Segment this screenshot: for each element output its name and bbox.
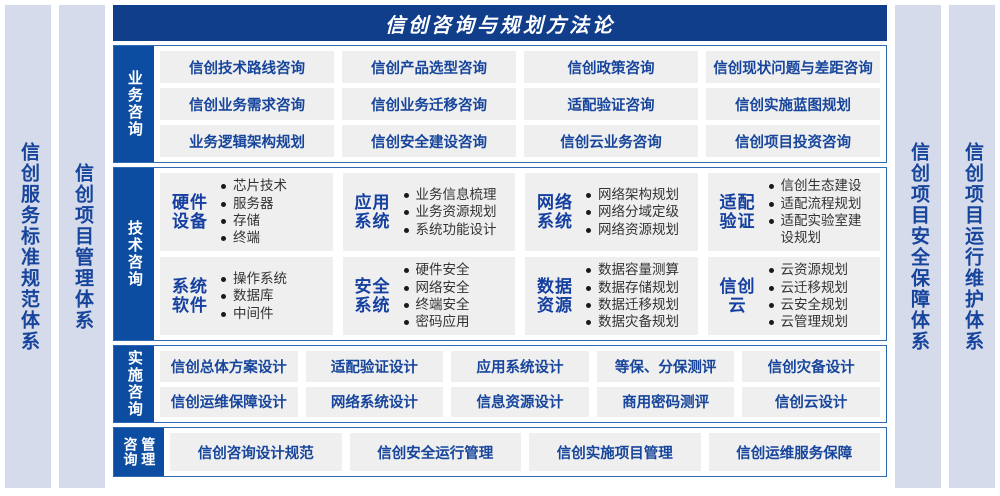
bullet-item: 业务资源规划 xyxy=(403,203,508,220)
chip-row: 信创业务需求咨询 信创业务迁移咨询 适配验证咨询 信创实施蓝图规划 xyxy=(160,88,880,120)
pillar-service-standard: 信创服务标准规范体系 xyxy=(5,5,51,488)
card-bullet-list: 业务信息梳理 业务资源规划 系统功能设计 xyxy=(403,186,508,238)
bullet-item: 云安全规划 xyxy=(768,296,873,313)
chip-item[interactable]: 信创业务需求咨询 xyxy=(160,88,334,120)
band-technical-consulting: 技术咨询 硬件 设备 芯片技术 服务器 存储 终端 应用 系统 xyxy=(113,167,887,341)
band-body-technical: 硬件 设备 芯片技术 服务器 存储 终端 应用 系统 业务信息梳理 业务资源规划 xyxy=(154,168,886,340)
chip-item[interactable]: 信创运维保障设计 xyxy=(160,387,298,418)
card-adaptation-verification[interactable]: 适配 验证 信创生态建设 适配流程规划 适配实验室建设规划 xyxy=(708,173,881,251)
bullet-item: 存储 xyxy=(220,212,325,229)
pillar-service-standard-label: 信创服务标准规范体系 xyxy=(18,142,38,352)
center-stack: 信创咨询与规划方法论 业务咨询 信创技术路线咨询 信创产品选型咨询 信创政策咨询… xyxy=(113,5,887,488)
pillar-project-management: 信创项目管理体系 xyxy=(59,5,105,488)
bullet-item: 服务器 xyxy=(220,195,325,212)
card-title: 系统 软件 xyxy=(168,277,212,315)
card-hardware-devices[interactable]: 硬件 设备 芯片技术 服务器 存储 终端 xyxy=(160,173,333,251)
card-title: 安全 系统 xyxy=(351,277,395,315)
chip-item[interactable]: 信创云业务咨询 xyxy=(524,125,698,157)
band-label-consulting-management: 咨询 管理 xyxy=(114,428,164,476)
band-body-business: 信创技术路线咨询 信创产品选型咨询 信创政策咨询 信创现状问题与差距咨询 信创业… xyxy=(154,46,886,162)
chip-item[interactable]: 信创实施蓝图规划 xyxy=(706,88,880,120)
chip-row: 信创技术路线咨询 信创产品选型咨询 信创政策咨询 信创现状问题与差距咨询 xyxy=(160,51,880,83)
bullet-item: 网络资源规划 xyxy=(585,221,690,238)
chip-item[interactable]: 等保、分保测评 xyxy=(597,351,735,382)
band-label-implementation: 实施咨询 xyxy=(114,346,154,422)
chip-item[interactable]: 适配验证设计 xyxy=(306,351,444,382)
bullet-item: 操作系统 xyxy=(220,270,325,287)
pillar-project-operations-label: 信创项目运行维护体系 xyxy=(962,142,982,352)
card-title: 硬件 设备 xyxy=(168,193,212,231)
bullet-item: 适配流程规划 xyxy=(768,195,873,212)
bullet-item: 芯片技术 xyxy=(220,177,325,194)
chip-item[interactable]: 信创云设计 xyxy=(742,387,880,418)
band-label-consulting-text: 咨询 xyxy=(123,437,138,467)
chip-item[interactable]: 适配验证咨询 xyxy=(524,88,698,120)
bullet-item: 云资源规划 xyxy=(768,261,873,278)
bullet-item: 网络架构规划 xyxy=(585,186,690,203)
band-label-technical: 技术咨询 xyxy=(114,168,154,340)
card-xinchuang-cloud[interactable]: 信创 云 云资源规划 云迁移规划 云安全规划 云管理规划 xyxy=(708,257,881,335)
chip-item[interactable]: 网络系统设计 xyxy=(306,387,444,418)
bullet-item: 终端安全 xyxy=(403,296,508,313)
band-business-consulting: 业务咨询 信创技术路线咨询 信创产品选型咨询 信创政策咨询 信创现状问题与差距咨… xyxy=(113,45,887,163)
chip-item[interactable]: 信创运维服务保障 xyxy=(709,433,881,471)
band-consulting-management: 咨询 管理 信创咨询设计规范 信创安全运行管理 信创实施项目管理 信创运维服务保… xyxy=(113,427,887,477)
band-label-management-text: 管理 xyxy=(141,437,156,467)
card-bullet-list: 数据容量测算 数据存储规划 数据迁移规划 数据灾备规划 xyxy=(585,261,690,330)
card-row: 系统 软件 操作系统 数据库 中间件 安全 系统 硬件安全 网络安全 终端安全 xyxy=(160,257,880,335)
chip-item[interactable]: 信创政策咨询 xyxy=(524,51,698,83)
methodology-diagram: 信创服务标准规范体系 信创项目管理体系 信创咨询与规划方法论 业务咨询 信创技术… xyxy=(0,0,1000,496)
card-title: 数据 资源 xyxy=(533,277,577,315)
band-body-management: 信创咨询设计规范 信创安全运行管理 信创实施项目管理 信创运维服务保障 xyxy=(164,428,886,476)
bullet-item: 信创生态建设 xyxy=(768,177,873,194)
bullet-item: 硬件安全 xyxy=(403,261,508,278)
pillar-project-operations: 信创项目运行维护体系 xyxy=(949,5,995,488)
chip-row: 信创总体方案设计 适配验证设计 应用系统设计 等保、分保测评 信创灾备设计 xyxy=(160,351,880,382)
band-label-technical-text: 技术咨询 xyxy=(126,220,142,288)
chip-item[interactable]: 信创业务迁移咨询 xyxy=(342,88,516,120)
band-body-implementation: 信创总体方案设计 适配验证设计 应用系统设计 等保、分保测评 信创灾备设计 信创… xyxy=(154,346,886,422)
bullet-item: 数据存储规划 xyxy=(585,279,690,296)
bullet-item: 中间件 xyxy=(220,305,325,322)
page-title-text: 信创咨询与规划方法论 xyxy=(385,9,615,38)
pillar-project-management-label: 信创项目管理体系 xyxy=(72,163,92,331)
bullet-item: 数据灾备规划 xyxy=(585,313,690,330)
card-title: 信创 云 xyxy=(716,277,760,315)
chip-item[interactable]: 信创灾备设计 xyxy=(742,351,880,382)
chip-item[interactable]: 信创总体方案设计 xyxy=(160,351,298,382)
card-title: 应用 系统 xyxy=(351,193,395,231)
chip-item[interactable]: 信创实施项目管理 xyxy=(529,433,701,471)
chip-row: 业务逻辑架构规划 信创安全建设咨询 信创云业务咨询 信创项目投资咨询 xyxy=(160,125,880,157)
bullet-item: 数据容量测算 xyxy=(585,261,690,278)
card-bullet-list: 芯片技术 服务器 存储 终端 xyxy=(220,177,325,246)
card-bullet-list: 操作系统 数据库 中间件 xyxy=(220,270,325,322)
page-title: 信创咨询与规划方法论 xyxy=(113,5,887,41)
band-implementation-consulting: 实施咨询 信创总体方案设计 适配验证设计 应用系统设计 等保、分保测评 信创灾备… xyxy=(113,345,887,423)
chip-item[interactable]: 信创技术路线咨询 xyxy=(160,51,334,83)
card-data-resources[interactable]: 数据 资源 数据容量测算 数据存储规划 数据迁移规划 数据灾备规划 xyxy=(525,257,698,335)
card-title: 适配 验证 xyxy=(716,193,760,231)
bullet-item: 适配实验室建设规划 xyxy=(768,212,873,247)
bullet-item: 终端 xyxy=(220,229,325,246)
chip-item[interactable]: 应用系统设计 xyxy=(451,351,589,382)
band-label-business-text: 业务咨询 xyxy=(126,70,142,138)
card-bullet-list: 信创生态建设 适配流程规划 适配实验室建设规划 xyxy=(768,177,873,246)
bullet-item: 云迁移规划 xyxy=(768,279,873,296)
card-row: 硬件 设备 芯片技术 服务器 存储 终端 应用 系统 业务信息梳理 业务资源规划 xyxy=(160,173,880,251)
bullet-item: 数据迁移规划 xyxy=(585,296,690,313)
chip-item[interactable]: 业务逻辑架构规划 xyxy=(160,125,334,157)
card-security-system[interactable]: 安全 系统 硬件安全 网络安全 终端安全 密码应用 xyxy=(343,257,516,335)
card-bullet-list: 网络架构规划 网络分域定级 网络资源规划 xyxy=(585,186,690,238)
bullet-item: 密码应用 xyxy=(403,313,508,330)
band-label-business: 业务咨询 xyxy=(114,46,154,162)
chip-row: 信创咨询设计规范 信创安全运行管理 信创实施项目管理 信创运维服务保障 xyxy=(170,433,880,471)
chip-item[interactable]: 商用密码测评 xyxy=(597,387,735,418)
chip-item[interactable]: 信创项目投资咨询 xyxy=(706,125,880,157)
chip-item[interactable]: 信创现状问题与差距咨询 xyxy=(706,51,880,83)
chip-item[interactable]: 信创产品选型咨询 xyxy=(342,51,516,83)
bullet-item: 网络安全 xyxy=(403,279,508,296)
card-system-software[interactable]: 系统 软件 操作系统 数据库 中间件 xyxy=(160,257,333,335)
chip-row: 信创运维保障设计 网络系统设计 信息资源设计 商用密码测评 信创云设计 xyxy=(160,387,880,418)
card-bullet-list: 硬件安全 网络安全 终端安全 密码应用 xyxy=(403,261,508,330)
bullet-item: 网络分域定级 xyxy=(585,203,690,220)
bullet-item: 云管理规划 xyxy=(768,313,873,330)
card-bullet-list: 云资源规划 云迁移规划 云安全规划 云管理规划 xyxy=(768,261,873,330)
card-application-system[interactable]: 应用 系统 业务信息梳理 业务资源规划 系统功能设计 xyxy=(343,173,516,251)
chip-item[interactable]: 信创咨询设计规范 xyxy=(170,433,342,471)
pillar-project-security-label: 信创项目安全保障体系 xyxy=(908,142,928,352)
bullet-item: 数据库 xyxy=(220,287,325,304)
card-title: 网络 系统 xyxy=(533,193,577,231)
chip-item[interactable]: 信息资源设计 xyxy=(451,387,589,418)
bullet-item: 业务信息梳理 xyxy=(403,186,508,203)
band-label-implementation-text: 实施咨询 xyxy=(126,350,142,418)
pillar-project-security: 信创项目安全保障体系 xyxy=(895,5,941,488)
chip-item[interactable]: 信创安全建设咨询 xyxy=(342,125,516,157)
chip-item[interactable]: 信创安全运行管理 xyxy=(350,433,522,471)
card-network-system[interactable]: 网络 系统 网络架构规划 网络分域定级 网络资源规划 xyxy=(525,173,698,251)
bullet-item: 系统功能设计 xyxy=(403,221,508,238)
